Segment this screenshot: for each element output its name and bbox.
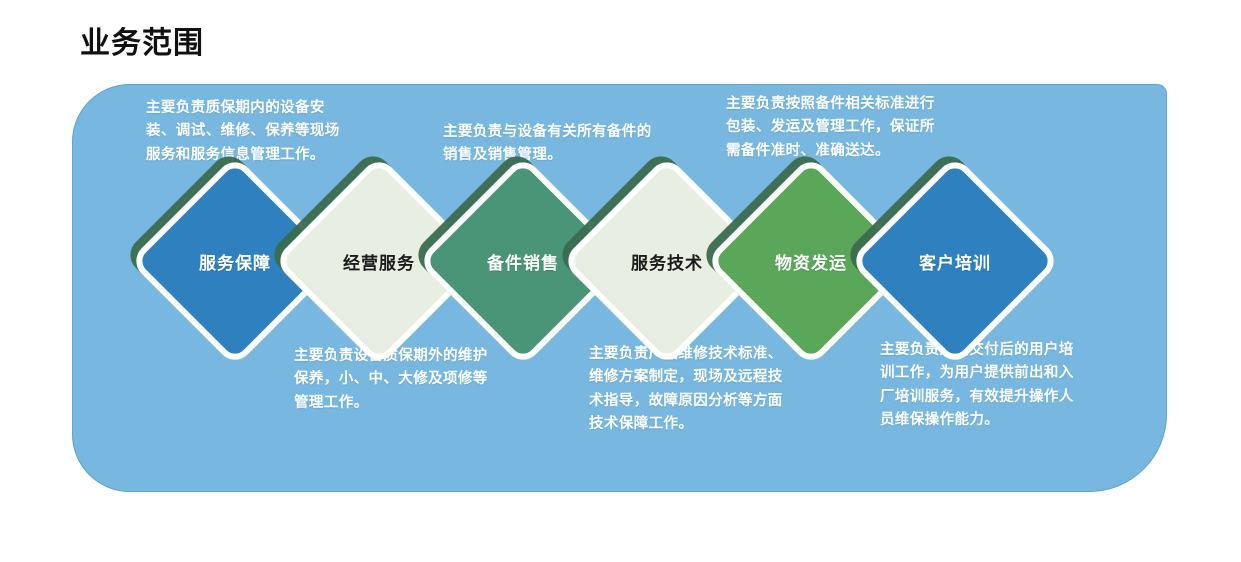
slide-canvas: 业务范围 主要负责质保期内的设备安装、调试、维修、保养等现场服务和服务信息管理工… [0, 0, 1241, 562]
diamond-row: 服务保障 经营服务 备件销售 服务技术 物资发运 客户培训 [0, 0, 1241, 562]
diamond-node-6[interactable]: 客户培训 [880, 186, 1030, 336]
diamond-label: 客户培训 [880, 186, 1030, 336]
